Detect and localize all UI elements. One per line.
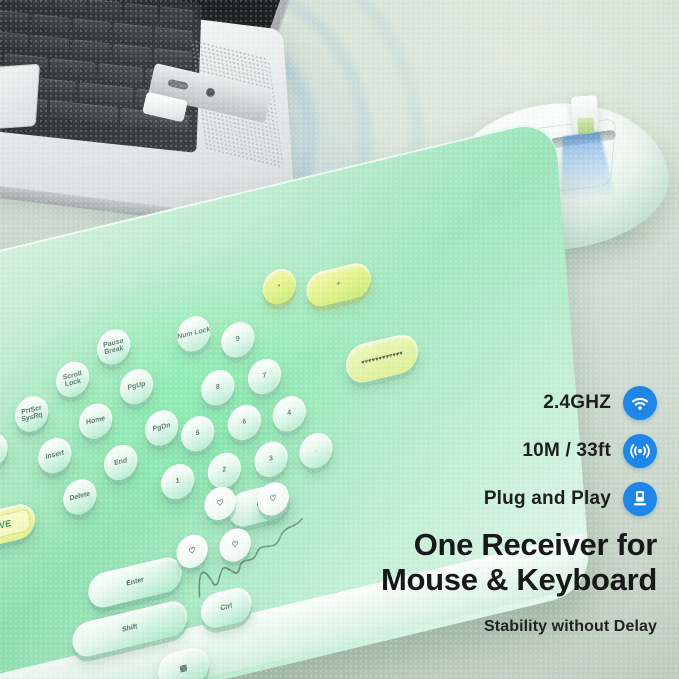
usb-receiver	[571, 95, 599, 131]
feature-label: 10M / 33ft	[522, 440, 611, 462]
feature-label: 2.4GHZ	[543, 392, 611, 414]
keycap[interactable]: 5	[180, 413, 216, 455]
keycap-label: Shift	[122, 623, 138, 634]
keycap[interactable]: Shift	[71, 598, 188, 660]
keycap[interactable]: 6	[227, 401, 263, 443]
keycap-label: Insert	[45, 450, 64, 462]
keycap[interactable]: F12	[0, 429, 9, 471]
keycap-label: 1	[176, 478, 180, 486]
keycap[interactable]: End	[103, 441, 139, 483]
keycap[interactable]: PgUp	[119, 366, 155, 408]
heart-pattern-icon: ♥♥♥♥♥♥♥♥♥♥♥♥	[349, 348, 414, 370]
keycap-label: Scroll Lock	[55, 368, 89, 391]
keycap-label: Ctrl	[220, 603, 232, 613]
keycap[interactable]: Scroll Lock	[55, 358, 91, 400]
keycap-label: End	[114, 457, 127, 468]
keycap-label: 5	[196, 430, 200, 438]
keycap-label: PgUp	[127, 381, 145, 393]
heart-pattern-icon: ♡	[269, 494, 277, 504]
heart-pattern-icon: ♡	[216, 498, 224, 508]
keycap[interactable]: 3	[253, 438, 289, 480]
keycap[interactable]: 9	[220, 319, 256, 361]
wifi-icon	[623, 386, 657, 420]
heart-pattern-icon: ♡	[231, 540, 239, 550]
keycap-label: 7	[262, 372, 266, 380]
product-marketing-image: F11F12PrtScr SysRqScroll LockPause Break…	[0, 0, 679, 679]
keycap-label: .	[315, 447, 317, 455]
subheadline: Stability without Delay	[257, 618, 657, 636]
headline: One Receiver for Mouse & Keyboard	[257, 528, 657, 597]
keycap[interactable]: PgDn	[144, 407, 180, 449]
keycap[interactable]: Num Lock	[176, 313, 212, 355]
keycap[interactable]: Ctrl	[200, 585, 253, 631]
feature-row-range: 10M / 33ft	[327, 434, 657, 468]
keycap[interactable]: Home	[78, 400, 114, 442]
keycap[interactable]: 8	[200, 367, 236, 409]
keycap-label: PgDn	[152, 422, 170, 434]
keycap[interactable]: Pause Break	[96, 326, 132, 368]
keycap-label: Delete	[69, 491, 90, 503]
keycap-label: Home	[86, 415, 105, 427]
keycap[interactable]: 4	[271, 393, 307, 435]
feature-row-frequency: 2.4GHZ	[327, 386, 657, 420]
keycap[interactable]: 1	[160, 461, 196, 503]
keycap[interactable]: Insert	[37, 435, 73, 477]
keycap-label: 6	[242, 418, 246, 426]
feature-row-plug-and-play: Plug and Play	[327, 482, 657, 516]
usb-dongle-icon	[623, 482, 657, 516]
keycap-label: Pause Break	[97, 336, 131, 359]
keycap-label: PrtScr SysRq	[15, 403, 49, 426]
keycap-label: 4	[287, 410, 291, 418]
heart-pattern-icon: ♡	[188, 546, 196, 556]
feature-label: Plug and Play	[484, 488, 611, 510]
laptop-trackpad	[0, 64, 40, 135]
rf-signal-icon	[623, 434, 657, 468]
keycap-label: Enter	[126, 577, 144, 589]
keycap[interactable]: Delete	[62, 476, 98, 518]
keycap-label: 2	[222, 466, 226, 474]
headline-line-1: One Receiver for	[257, 528, 657, 563]
keycap-label: 9	[236, 336, 240, 344]
headline-line-2: Mouse & Keyboard	[257, 563, 657, 598]
keycap-label: Num Lock	[177, 326, 210, 341]
keycap-label: 8	[216, 384, 220, 392]
keycap[interactable]: PrtScr SysRq	[14, 393, 50, 435]
menu-icon: ▤	[179, 663, 187, 673]
keycap-label: 3	[269, 455, 273, 463]
keycap[interactable]: 7	[247, 355, 283, 397]
keycap[interactable]: 2	[207, 449, 243, 491]
laptop	[0, 0, 304, 196]
